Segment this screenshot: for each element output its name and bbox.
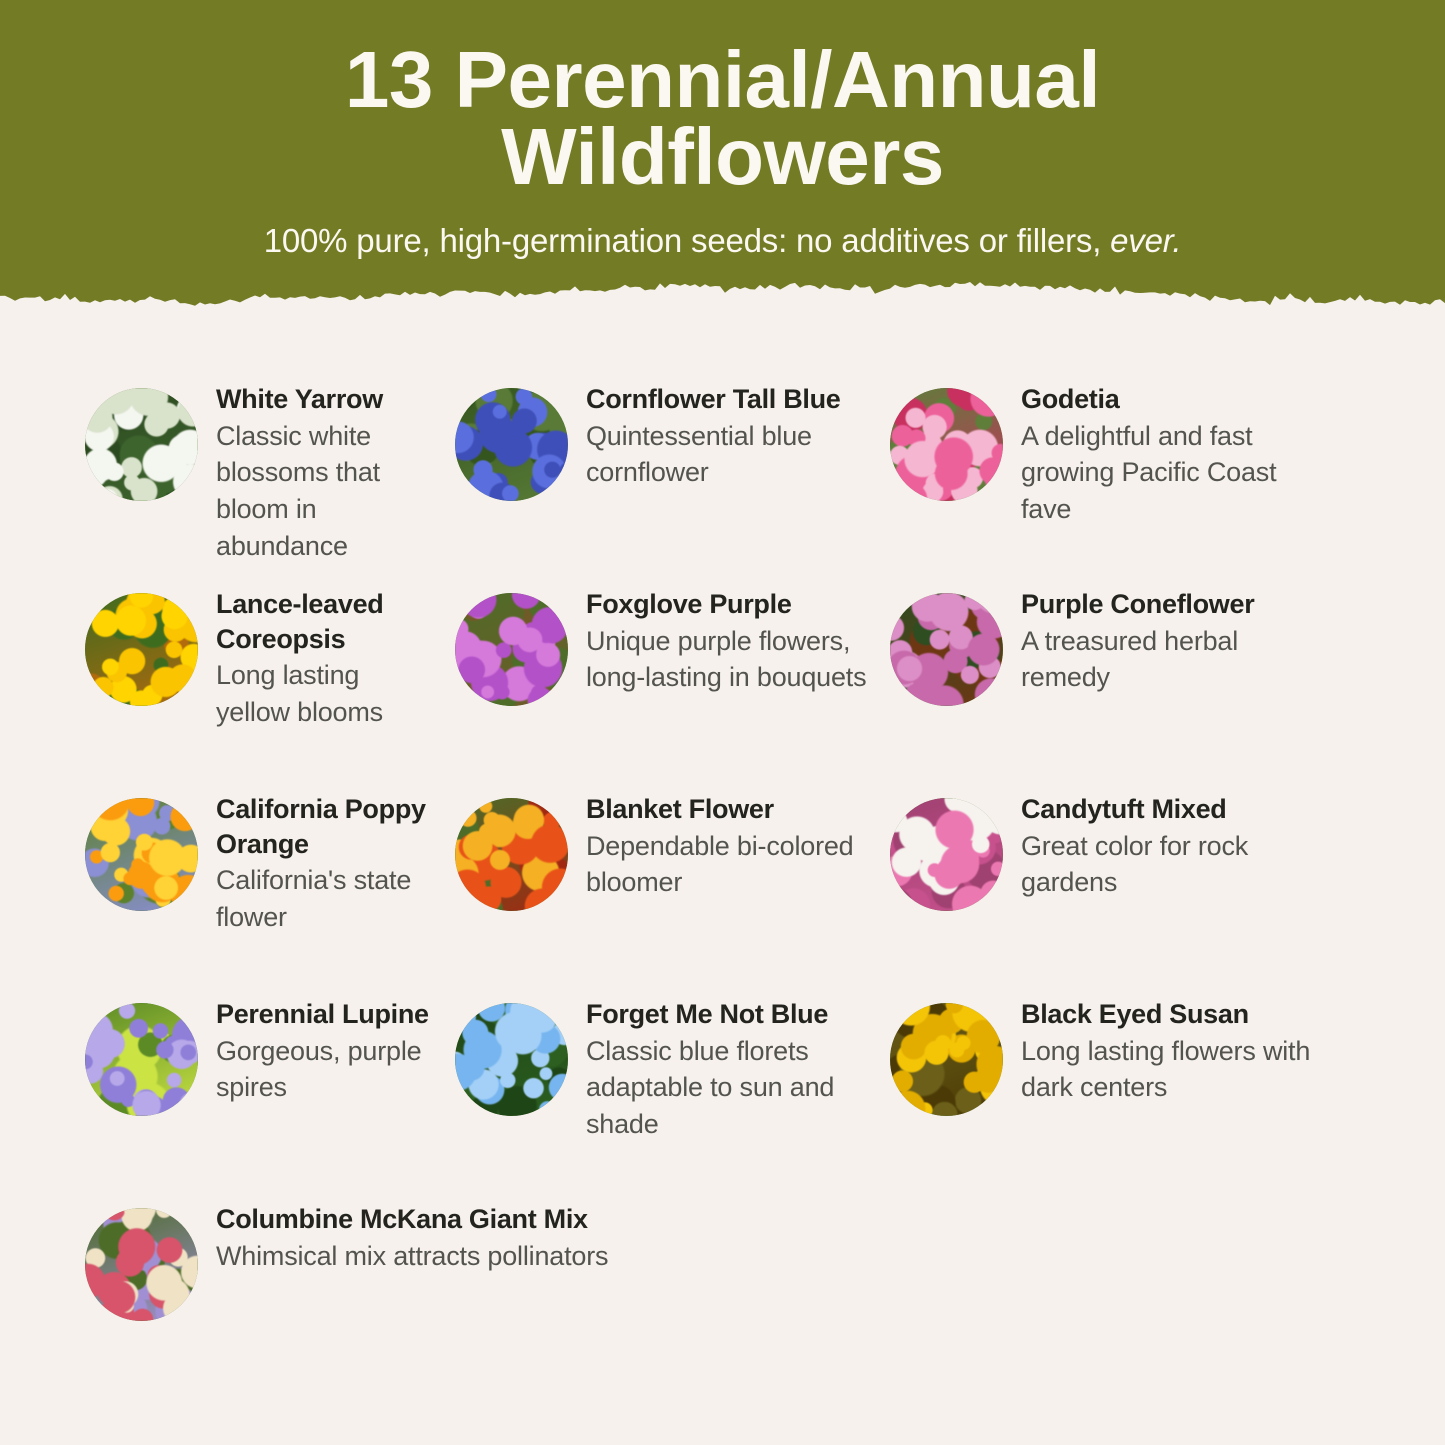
flower-name: Blanket Flower bbox=[586, 792, 880, 827]
flower-description: Classic blue florets adaptable to sun an… bbox=[586, 1032, 880, 1143]
flower-row: Lance-leaved Coreopsis Long lasting yell… bbox=[0, 577, 1445, 782]
california-poppy-orange-photo bbox=[85, 798, 198, 911]
candytuft-mixed-photo bbox=[890, 798, 1003, 911]
flower-name: Candytuft Mixed bbox=[1021, 792, 1321, 827]
page-subtitle: 100% pure, high-germination seeds: no ad… bbox=[264, 196, 1182, 260]
flower-row: California Poppy Orange California's sta… bbox=[0, 782, 1445, 987]
white-yarrow-photo bbox=[85, 388, 198, 501]
flower-name: Cornflower Tall Blue bbox=[586, 382, 880, 417]
flower-list: White Yarrow Classic white blossoms that… bbox=[0, 372, 1445, 1397]
flower-name: Foxglove Purple bbox=[586, 587, 880, 622]
flower-row: Columbine McKana Giant Mix Whimsical mix… bbox=[0, 1192, 1445, 1397]
flower-name: California Poppy Orange bbox=[216, 792, 440, 861]
flower-item-white-yarrow[interactable]: White Yarrow Classic white blossoms that… bbox=[0, 372, 440, 577]
flower-row: White Yarrow Classic white blossoms that… bbox=[0, 372, 1445, 577]
flower-name: Godetia bbox=[1021, 382, 1321, 417]
flower-item-lance-leaved-coreopsis[interactable]: Lance-leaved Coreopsis Long lasting yell… bbox=[0, 577, 440, 782]
flower-description: A delightful and fast growing Pacific Co… bbox=[1021, 417, 1321, 528]
flower-name: Black Eyed Susan bbox=[1021, 997, 1360, 1032]
flower-description: Long lasting yellow blooms bbox=[216, 656, 440, 730]
header-content: 13 Perennial/Annual Wildflowers 100% pur… bbox=[0, 0, 1445, 308]
flower-item-candytuft-mixed[interactable]: Candytuft Mixed Great color for rock gar… bbox=[880, 782, 1360, 987]
flower-item-perennial-lupine[interactable]: Perennial Lupine Gorgeous, purple spires bbox=[0, 987, 440, 1192]
flower-name: Lance-leaved Coreopsis bbox=[216, 587, 440, 656]
flower-description: Gorgeous, purple spires bbox=[216, 1032, 440, 1106]
lance-leaved-coreopsis-photo bbox=[85, 593, 198, 706]
columbine-mckana-giant-mix-photo bbox=[85, 1208, 198, 1321]
flower-item-columbine-mckana-giant-mix[interactable]: Columbine McKana Giant Mix Whimsical mix… bbox=[0, 1192, 1000, 1397]
subtitle-emphasis-text: ever. bbox=[1110, 222, 1181, 259]
flower-name: White Yarrow bbox=[216, 382, 440, 417]
perennial-lupine-photo bbox=[85, 1003, 198, 1116]
forget-me-not-blue-photo bbox=[455, 1003, 568, 1116]
header-banner: 13 Perennial/Annual Wildflowers 100% pur… bbox=[0, 0, 1445, 308]
subtitle-main-text: 100% pure, high-germination seeds: no ad… bbox=[264, 222, 1110, 259]
flower-name: Perennial Lupine bbox=[216, 997, 440, 1032]
flower-item-foxglove-purple[interactable]: Foxglove Purple Unique purple flowers, l… bbox=[440, 577, 880, 782]
black-eyed-susan-photo bbox=[890, 1003, 1003, 1116]
flower-description: Classic white blossoms that bloom in abu… bbox=[216, 417, 440, 565]
page-title: 13 Perennial/Annual Wildflowers bbox=[193, 42, 1253, 196]
blanket-flower-photo bbox=[455, 798, 568, 911]
cornflower-tall-blue-photo bbox=[455, 388, 568, 501]
flower-description: Quintessential blue cornflower bbox=[586, 417, 880, 491]
foxglove-purple-photo bbox=[455, 593, 568, 706]
flower-row: Perennial Lupine Gorgeous, purple spires… bbox=[0, 987, 1445, 1192]
flower-item-godetia[interactable]: Godetia A delightful and fast growing Pa… bbox=[880, 372, 1360, 577]
flower-item-forget-me-not-blue[interactable]: Forget Me Not Blue Classic blue florets … bbox=[440, 987, 880, 1192]
flower-description: Great color for rock gardens bbox=[1021, 827, 1321, 901]
torn-paper-edge bbox=[0, 268, 1445, 330]
flower-description: California's state flower bbox=[216, 861, 440, 935]
flower-name: Forget Me Not Blue bbox=[586, 997, 880, 1032]
flower-item-california-poppy-orange[interactable]: California Poppy Orange California's sta… bbox=[0, 782, 440, 987]
flower-description: Unique purple flowers, long-lasting in b… bbox=[586, 622, 880, 696]
flower-description: Dependable bi-colored bloomer bbox=[586, 827, 880, 901]
flower-item-black-eyed-susan[interactable]: Black Eyed Susan Long lasting flowers wi… bbox=[880, 987, 1360, 1192]
flower-description: A treasured herbal remedy bbox=[1021, 622, 1321, 696]
flower-item-purple-coneflower[interactable]: Purple Coneflower A treasured herbal rem… bbox=[880, 577, 1360, 782]
flower-name: Columbine McKana Giant Mix bbox=[216, 1202, 608, 1237]
flower-item-cornflower-tall-blue[interactable]: Cornflower Tall Blue Quintessential blue… bbox=[440, 372, 880, 577]
godetia-photo bbox=[890, 388, 1003, 501]
purple-coneflower-photo bbox=[890, 593, 1003, 706]
flower-name: Purple Coneflower bbox=[1021, 587, 1321, 622]
flower-item-blanket-flower[interactable]: Blanket Flower Dependable bi-colored blo… bbox=[440, 782, 880, 987]
flower-description: Long lasting flowers with dark centers bbox=[1021, 1032, 1360, 1106]
flower-description: Whimsical mix attracts pollinators bbox=[216, 1237, 608, 1275]
